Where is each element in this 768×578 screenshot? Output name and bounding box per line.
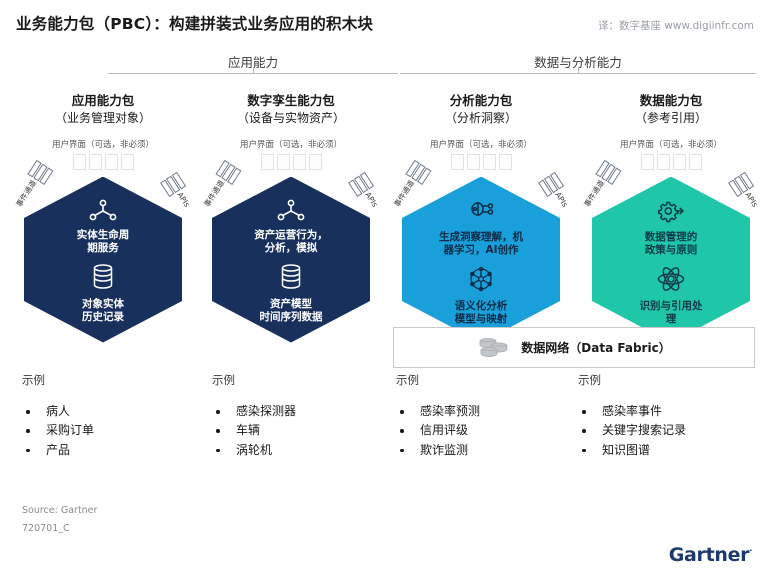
side-label: 事件通道 — [202, 178, 228, 209]
database-stack-icon — [92, 264, 114, 294]
examples-list: 感染率预测信用评级欺诈监测 — [396, 402, 576, 460]
hexagon-wrapper: 实体生命周期服务 对象实体历史记录 事件通道 APIs — [8, 177, 198, 345]
page-title: 业务能力包（PBC）：构建拼装式业务应用的积木块 — [16, 12, 373, 34]
doc-id: 720701_C — [22, 520, 97, 538]
ui-block — [73, 154, 86, 170]
hex-text-bottom: 资产模型时间序列数据 — [232, 298, 350, 325]
ui-block — [467, 154, 480, 170]
list-item: 产品 — [22, 441, 202, 460]
pbc-hexagon[interactable]: 资产运营行为，分析，模拟 资产模型时间序列数据 — [212, 177, 370, 343]
network-node-icon — [88, 199, 118, 225]
brain-circuit-icon — [465, 199, 497, 227]
column-title: 数据能力包 — [576, 92, 766, 110]
list-item: 关键字搜索记录 — [578, 421, 758, 440]
column-title: 分析能力包 — [386, 92, 576, 110]
pbc-hexagon[interactable]: 数据管理的政策与原则 识别与引用处理 — [592, 177, 750, 343]
ui-block — [483, 154, 496, 170]
ui-note: 用户界面（可选，非必须） — [386, 138, 576, 150]
side-label: APIs — [363, 190, 379, 208]
logo-text: Gartner — [669, 544, 750, 566]
pbc-column-data: 数据能力包 （参考引用） 用户界面（可选，非必须） 数据管理的政策与原则 — [576, 92, 766, 345]
column-title: 数字孪生能力包 — [196, 92, 386, 110]
hex-text-bottom: 识别与引用处理 — [612, 300, 730, 327]
registered-mark: . — [749, 544, 752, 553]
examples-application: 示例 病人采购订单产品 — [22, 372, 202, 460]
column-title: 应用能力包 — [8, 92, 198, 110]
examples-heading: 示例 — [578, 372, 758, 388]
list-item: 采购订单 — [22, 421, 202, 440]
list-item: 感染率事件 — [578, 402, 758, 421]
gear-arrow-icon — [656, 199, 686, 227]
atom-icon — [657, 266, 685, 296]
ui-block — [293, 154, 306, 170]
source-text: Source: Gartner — [22, 502, 97, 520]
ui-block — [641, 154, 654, 170]
hexagon-wrapper: 生成洞察理解，机器学习，AI创作 语义化分析模型与映射 事件通道 APIs — [386, 177, 576, 345]
list-item: 病人 — [22, 402, 202, 421]
side-label: APIs — [175, 190, 191, 208]
apis-connector: APIs — [349, 171, 384, 211]
side-label: 事件通道 — [14, 178, 40, 209]
pbc-column-application: 应用能力包 （业务管理对象） 用户界面（可选，非必须） 实体生命周期服务 对象实… — [8, 92, 198, 345]
source-note: Source: Gartner 720701_C — [22, 502, 97, 538]
ui-block — [261, 154, 274, 170]
translator-credit: 译：数字基座 www.digiinfr.com — [598, 18, 754, 33]
apis-connector: APIs — [161, 171, 196, 211]
neural-network-icon — [467, 266, 495, 296]
ui-note: 用户界面（可选，非必须） — [576, 138, 766, 150]
side-label: 事件通道 — [392, 178, 418, 209]
database-cylinders-icon — [477, 335, 511, 361]
list-item: 感染率预测 — [396, 402, 576, 421]
side-label: 事件通道 — [582, 178, 608, 209]
hexagon-wrapper: 数据管理的政策与原则 识别与引用处理 事件通道 APIs — [576, 177, 766, 345]
data-fabric-panel[interactable]: 数据网络（Data Fabric） — [393, 327, 755, 368]
column-subtitle: （业务管理对象） — [8, 110, 198, 127]
hex-text-top: 数据管理的政策与原则 — [612, 231, 730, 258]
ui-block — [105, 154, 118, 170]
examples-heading: 示例 — [22, 372, 202, 388]
hex-text-top: 生成洞察理解，机器学习，AI创作 — [422, 231, 540, 258]
list-item: 欺诈监测 — [396, 441, 576, 460]
list-item: 信用评级 — [396, 421, 576, 440]
examples-data: 示例 感染率事件关键字搜索记录知识图谱 — [578, 372, 758, 460]
ui-block — [657, 154, 670, 170]
group-line — [400, 73, 756, 74]
ui-block — [689, 154, 702, 170]
examples-list: 感染探测器车辆涡轮机 — [212, 402, 392, 460]
list-item: 感染探测器 — [212, 402, 392, 421]
list-item: 涡轮机 — [212, 441, 392, 460]
ui-block — [309, 154, 322, 170]
list-item: 车辆 — [212, 421, 392, 440]
ui-block — [673, 154, 686, 170]
ui-note: 用户界面（可选，非必须） — [196, 138, 386, 150]
examples-digital-twin: 示例 感染探测器车辆涡轮机 — [212, 372, 392, 460]
pbc-hexagon[interactable]: 实体生命周期服务 对象实体历史记录 — [24, 177, 182, 343]
column-subtitle: （参考引用） — [576, 110, 766, 127]
hex-text-bottom: 对象实体历史记录 — [44, 298, 162, 325]
side-label: APIs — [743, 190, 759, 208]
ui-note: 用户界面（可选，非必须） — [8, 138, 198, 150]
examples-list: 感染率事件关键字搜索记录知识图谱 — [578, 402, 758, 460]
ui-block — [121, 154, 134, 170]
hex-text-bottom: 语义化分析模型与映射 — [422, 300, 540, 327]
ui-block — [451, 154, 464, 170]
group-line — [108, 73, 398, 74]
database-stack-icon — [280, 264, 302, 294]
hex-text-top: 实体生命周期服务 — [44, 229, 162, 256]
examples-heading: 示例 — [396, 372, 576, 388]
pbc-column-digital-twin: 数字孪生能力包 （设备与实物资产） 用户界面（可选，非必须） 资产运营行为，分析… — [196, 92, 386, 345]
data-fabric-label: 数据网络（Data Fabric） — [521, 339, 670, 356]
apis-connector: APIs — [539, 171, 574, 211]
examples-analytics: 示例 感染率预测信用评级欺诈监测 — [396, 372, 576, 460]
examples-heading: 示例 — [212, 372, 392, 388]
list-item: 知识图谱 — [578, 441, 758, 460]
pbc-hexagon[interactable]: 生成洞察理解，机器学习，AI创作 语义化分析模型与映射 — [402, 177, 560, 343]
ui-block — [277, 154, 290, 170]
ui-block — [89, 154, 102, 170]
network-node-icon — [276, 199, 306, 225]
hex-text-top: 资产运营行为，分析，模拟 — [232, 229, 350, 256]
ui-block — [499, 154, 512, 170]
examples-list: 病人采购订单产品 — [22, 402, 202, 460]
pbc-column-analytics: 分析能力包 （分析洞察） 用户界面（可选，非必须） 生成洞察理解，机器学习，AI… — [386, 92, 576, 345]
column-subtitle: （分析洞察） — [386, 110, 576, 127]
apis-connector: APIs — [729, 171, 764, 211]
hexagon-wrapper: 资产运营行为，分析，模拟 资产模型时间序列数据 事件通道 APIs — [196, 177, 386, 345]
column-subtitle: （设备与实物资产） — [196, 110, 386, 127]
gartner-logo: Gartner. — [669, 544, 752, 566]
side-label: APIs — [553, 190, 569, 208]
